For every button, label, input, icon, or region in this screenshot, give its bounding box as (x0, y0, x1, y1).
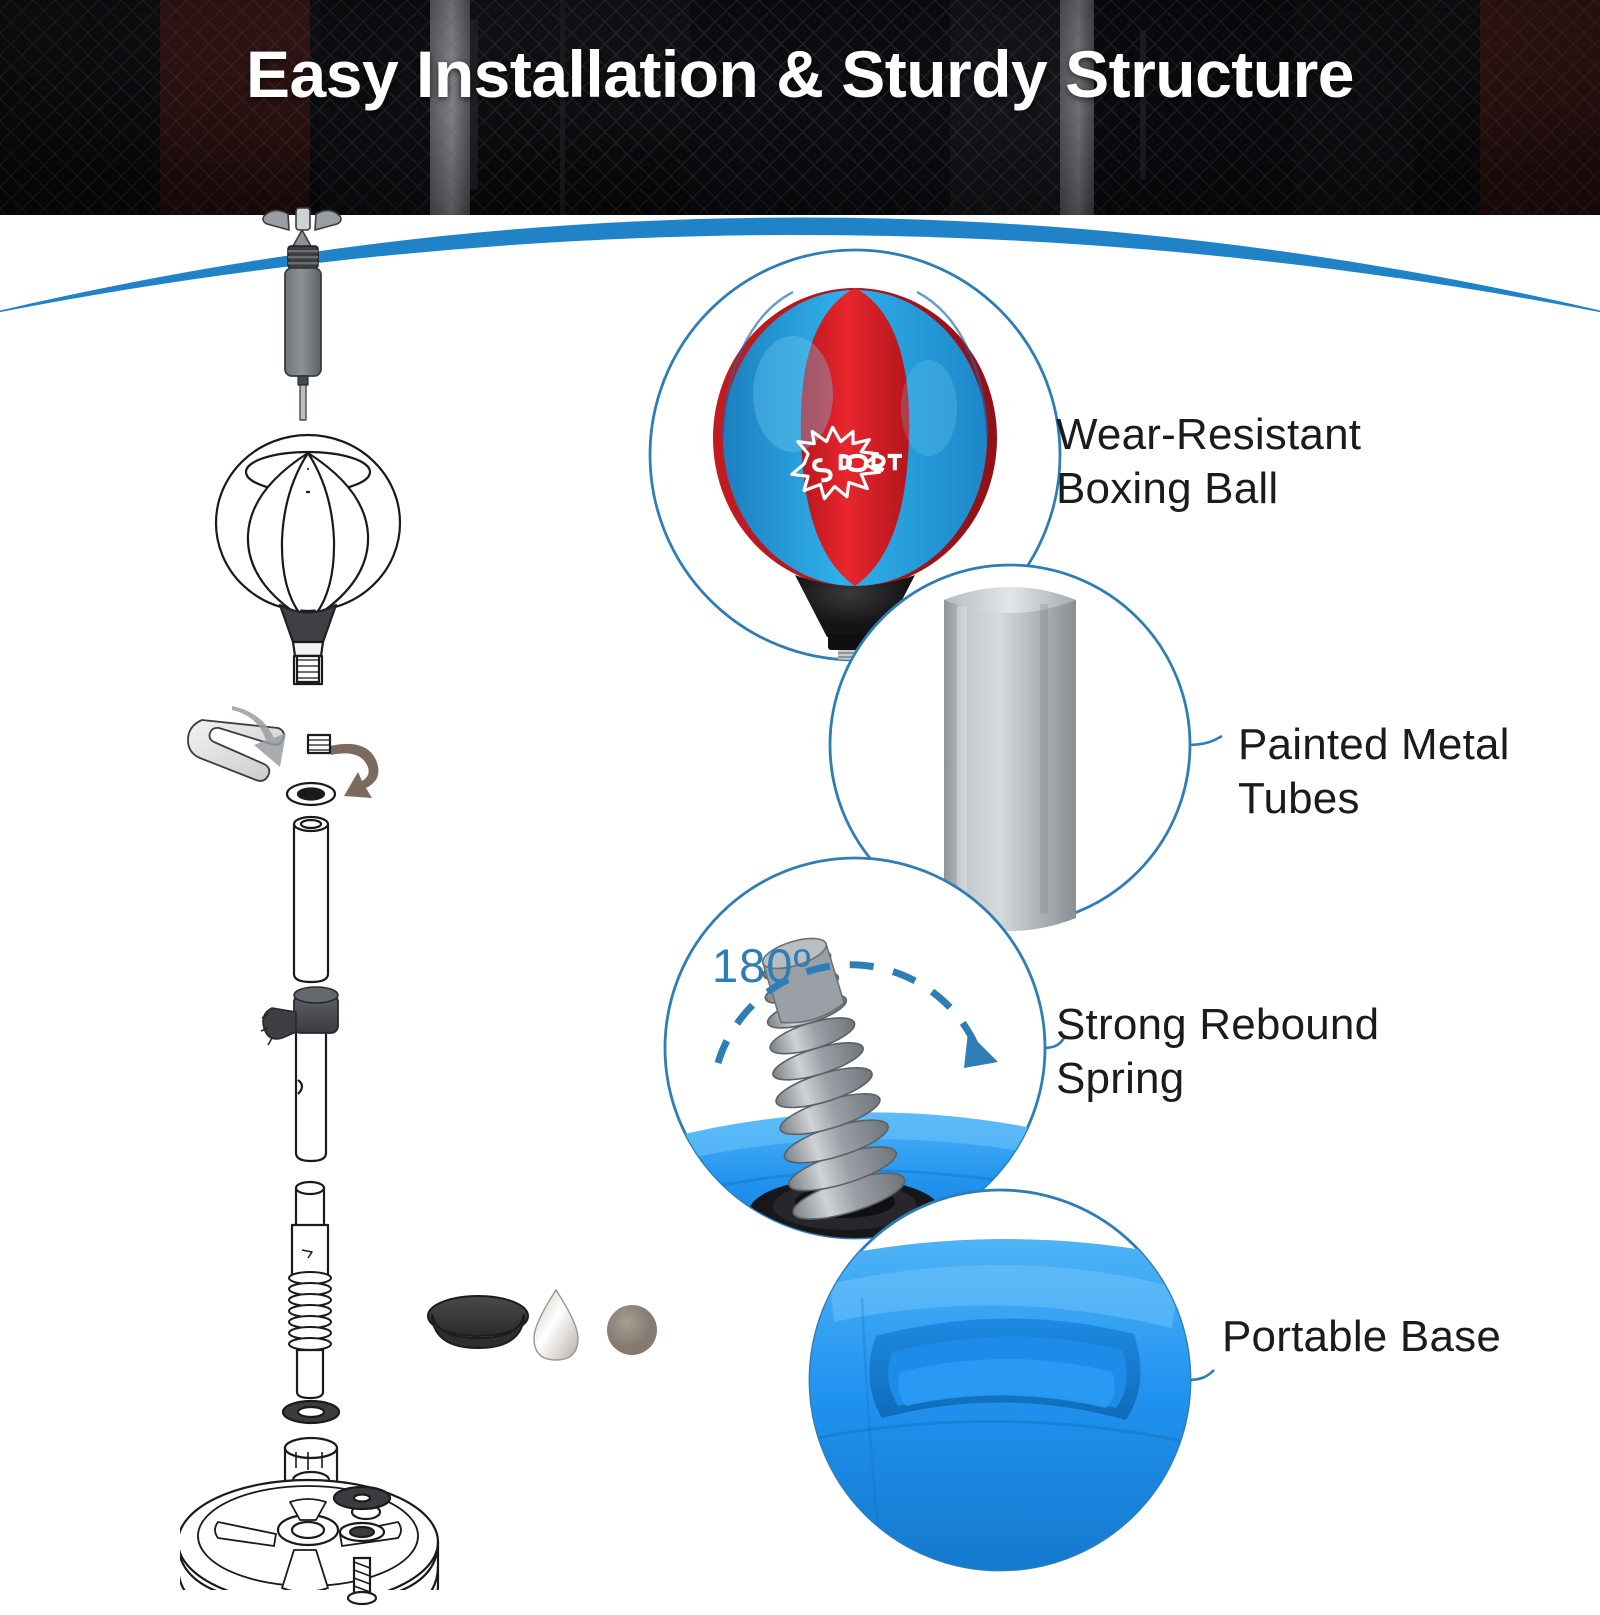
label-line: Wear-Resistant (1056, 408, 1486, 462)
callout-label-boxing-ball: Wear-Resistant Boxing Ball (1056, 408, 1486, 515)
label-line: Portable Base (1222, 1310, 1600, 1364)
rotation-angle-annotation: 180º (712, 938, 812, 993)
label-line: Painted Metal (1238, 718, 1598, 772)
callout-label-portable-base: Portable Base (1222, 1310, 1600, 1364)
label-line: Tubes (1238, 772, 1598, 826)
label-line: Boxing Ball (1056, 462, 1486, 516)
callout-label-metal-tubes: Painted Metal Tubes (1238, 718, 1598, 825)
infographic-stage: Easy Installation & Sturdy Structure (0, 0, 1600, 1600)
label-line: Spring (1056, 1052, 1486, 1106)
metal-tube-image (944, 587, 1076, 931)
callout-label-rebound-spring: Strong Rebound Spring (1056, 998, 1486, 1105)
label-line: Strong Rebound (1056, 998, 1486, 1052)
callout-portable-base (806, 1190, 1204, 1592)
